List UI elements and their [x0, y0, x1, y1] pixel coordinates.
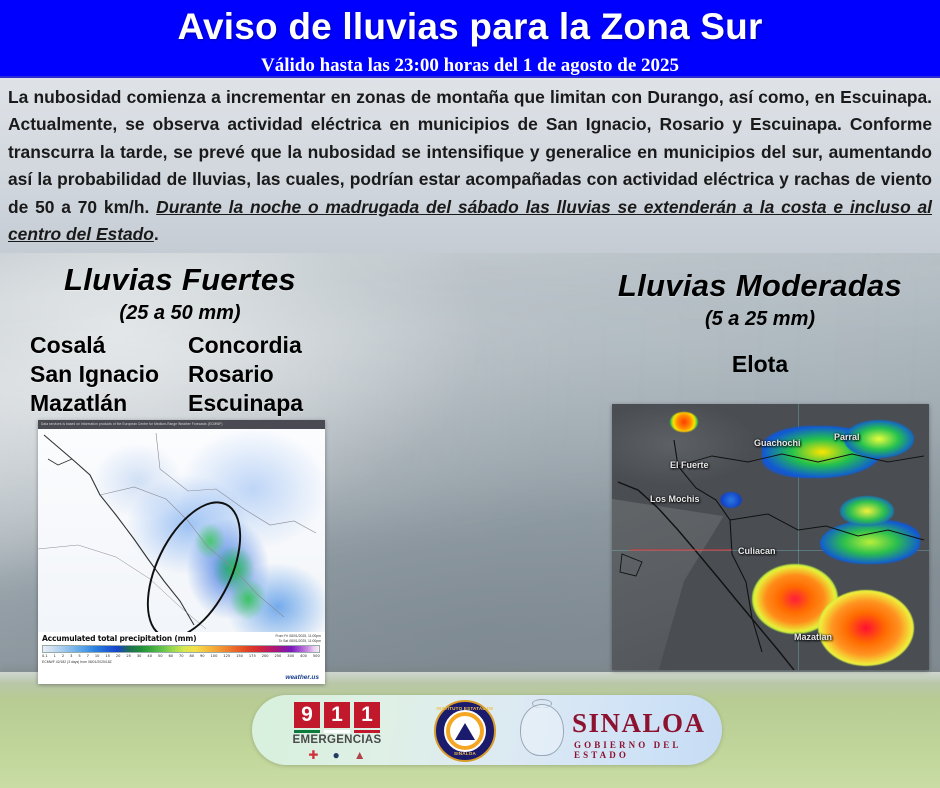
category-strong-rains: Lluvias Fuertes (25 a 50 mm) Cosalá Conc…	[20, 262, 340, 417]
seal-text-top: INSTITUTO ESTATAL DE	[436, 706, 494, 711]
scale-tick: 50	[158, 654, 163, 658]
municipality-item: Concordia	[184, 332, 340, 359]
scale-tick: 3	[70, 654, 72, 658]
seal-core	[450, 716, 480, 746]
weather-brand-label: weather.us	[285, 674, 319, 681]
category-strong-municipality-list: Cosalá Concordia San Ignacio Rosario Maz…	[20, 332, 340, 417]
state-crest-icon	[520, 704, 564, 756]
scale-tick: 5	[78, 654, 80, 658]
scale-tick: 300	[287, 654, 294, 658]
scale-tick: 20	[116, 654, 121, 658]
city-label-el-fuerte: El Fuerte	[670, 460, 709, 470]
scale-tick: 400	[300, 654, 307, 658]
emergency-digits: 9 1 1	[282, 702, 392, 728]
validity-text: Válido hasta las 23:00 horas del 1 de ag…	[0, 45, 940, 75]
civil-protection-triangle-icon	[455, 723, 475, 740]
emergency-911-logo: 9 1 1 EMERGENCIAS ✚ ● ▲	[282, 702, 392, 760]
municipality-item: Rosario	[184, 361, 340, 388]
tricolor-underline	[282, 730, 392, 733]
scale-tick: 125	[223, 654, 230, 658]
category-strong-title: Lluvias Fuertes	[20, 262, 340, 298]
emergency-digit: 1	[354, 702, 380, 728]
precip-color-scale	[42, 645, 320, 653]
precip-valid-period: From Fri 08/01/2025, 11:00pm To Sat 08/0…	[275, 634, 321, 644]
advisory-text-panel: La nubosidad comienza a incrementar en z…	[0, 78, 940, 253]
scale-tick: 7	[87, 654, 89, 658]
infographic-canvas: Aviso de lluvias para la Zona Sur Válido…	[0, 0, 940, 788]
sinaloa-subtitle: GOBIERNO DEL ESTADO	[574, 740, 710, 760]
category-strong-range: (25 a 50 mm)	[20, 302, 340, 325]
scale-tick: 1	[54, 654, 56, 658]
precip-model-note: ECMWF 42/182 (3 days) from 08/01/2025/18…	[42, 660, 321, 665]
scale-tick: 150	[236, 654, 243, 658]
emergency-label: EMERGENCIAS	[282, 734, 392, 746]
precip-scale-ticks: 0.1 1 2 3 5 7 10 15 20 25 30 40 50 60 70…	[42, 654, 320, 658]
page-title: Aviso de lluvias para la Zona Sur	[0, 0, 940, 45]
city-label-los-mochis: Los Mochis	[650, 494, 700, 504]
scale-tick: 40	[147, 654, 152, 658]
category-moderate-title: Lluvias Moderadas	[595, 268, 925, 304]
municipality-item: Mazatlán	[20, 390, 176, 417]
tricolor-green	[294, 730, 320, 733]
police-icon: ●	[332, 748, 339, 762]
civil-protection-seal: INSTITUTO ESTATAL DE SINALOA	[434, 700, 496, 762]
tricolor-red	[354, 730, 380, 733]
category-moderate-range: (5 a 25 mm)	[595, 308, 925, 331]
sinaloa-government-logo: SINALOA GOBIERNO DEL ESTADO	[520, 702, 710, 760]
scale-tick: 10	[95, 654, 100, 658]
municipality-item: Elota	[595, 351, 925, 378]
scale-tick: 80	[189, 654, 194, 658]
scale-tick: 70	[179, 654, 184, 658]
precip-map-caption: Data services is based on information pr…	[38, 420, 325, 429]
seal-text-bottom: SINALOA	[436, 751, 494, 756]
scale-tick: 60	[168, 654, 173, 658]
emergency-service-icons: ✚ ● ▲	[282, 748, 392, 762]
scale-tick: 250	[274, 654, 281, 658]
emergency-digit: 1	[324, 702, 350, 728]
seal-inner-ring	[444, 710, 486, 752]
municipality-item: Escuinapa	[184, 390, 340, 417]
scale-tick: 100	[211, 654, 218, 658]
scale-tick: 90	[200, 654, 205, 658]
sinaloa-wordmark: SINALOA	[572, 708, 706, 739]
scale-tick: 500	[313, 654, 320, 658]
firefighter-icon: ▲	[354, 748, 366, 762]
scale-tick: 25	[126, 654, 131, 658]
category-moderate-rains: Lluvias Moderadas (5 a 25 mm) Elota	[595, 268, 925, 378]
emergency-digit: 9	[294, 702, 320, 728]
scale-tick: 2	[62, 654, 64, 658]
scale-tick: 200	[262, 654, 269, 658]
satellite-radar-map[interactable]: Guachochi Parral El Fuerte Los Mochis Cu…	[612, 404, 929, 670]
advisory-paragraph-end: .	[154, 224, 159, 244]
municipality-item: Cosalá	[20, 332, 176, 359]
precipitation-forecast-map[interactable]: Data services is based on information pr…	[38, 420, 325, 684]
scale-tick: 175	[249, 654, 256, 658]
city-label-culiacan: Culiacan	[738, 546, 776, 556]
precip-legend: Accumulated total precipitation (mm) Fro…	[38, 632, 325, 684]
scale-tick: 30	[137, 654, 142, 658]
scale-tick: 0.1	[42, 654, 48, 658]
precip-valid-to: To Sat 08/01/2025, 11:00pm	[275, 639, 321, 644]
city-label-parral: Parral	[834, 432, 860, 442]
advisory-paragraph: La nubosidad comienza a incrementar en z…	[8, 84, 932, 248]
city-label-guachochi: Guachochi	[754, 438, 801, 448]
scale-tick: 15	[105, 654, 110, 658]
medical-cross-icon: ✚	[308, 748, 318, 762]
tricolor-white	[324, 730, 350, 733]
city-label-mazatlan: Mazatlan	[794, 632, 832, 642]
municipality-item: San Ignacio	[20, 361, 176, 388]
header-banner: Aviso de lluvias para la Zona Sur Válido…	[0, 0, 940, 78]
